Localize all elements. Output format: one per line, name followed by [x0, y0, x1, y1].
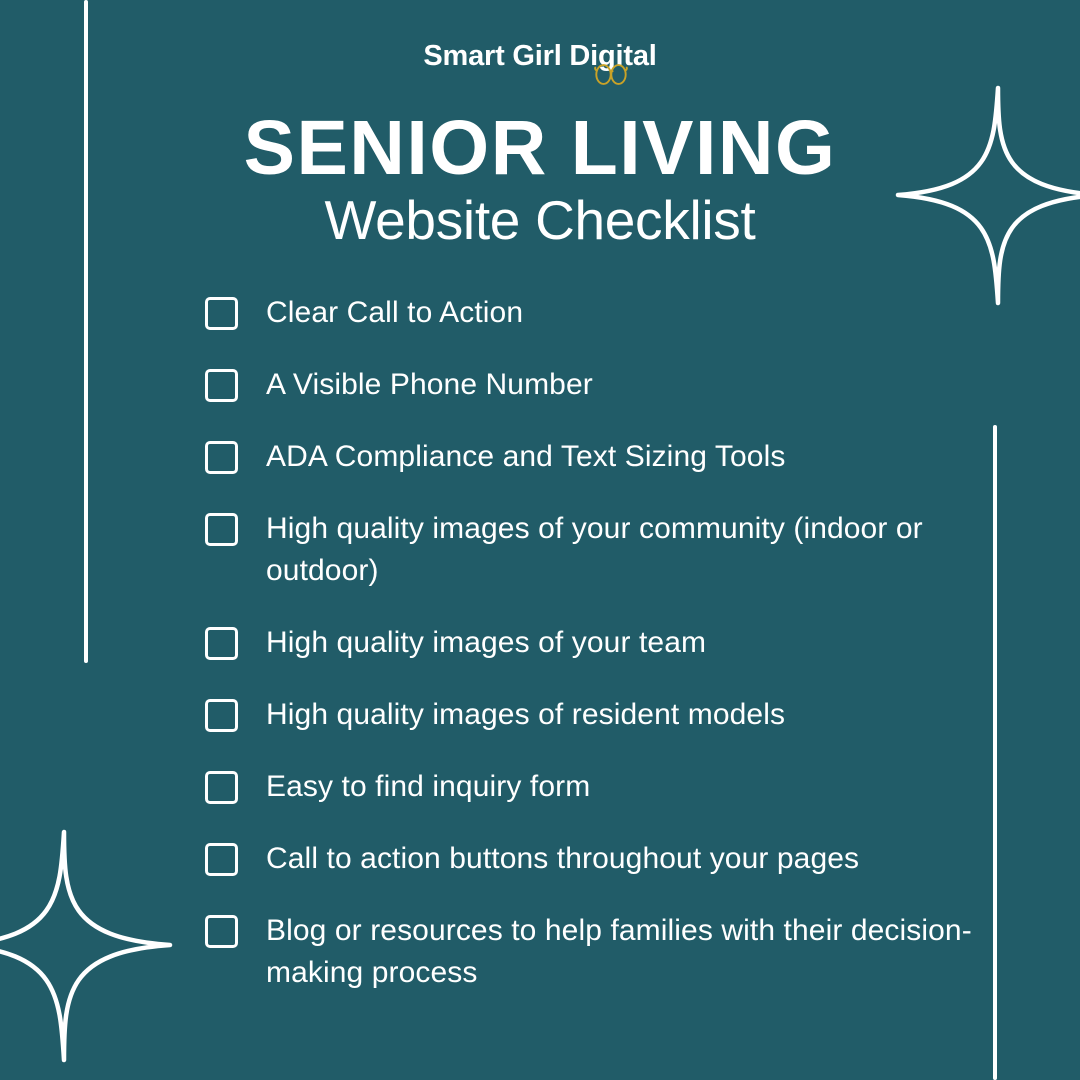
list-item-label: Clear Call to Action: [266, 292, 523, 334]
sparkle-icon-bottom-left: [0, 832, 170, 1060]
list-item[interactable]: Clear Call to Action: [205, 292, 1035, 334]
list-item-label: High quality images of resident models: [266, 694, 785, 736]
brand-logo: Smart Girl Digital: [0, 36, 1080, 80]
vertical-divider-left: [84, 0, 88, 663]
checkbox-icon[interactable]: [205, 369, 238, 402]
checkbox-icon[interactable]: [205, 771, 238, 804]
checkbox-icon[interactable]: [205, 627, 238, 660]
checkbox-icon[interactable]: [205, 297, 238, 330]
list-item-label: Easy to find inquiry form: [266, 766, 590, 808]
list-item-label: High quality images of your community (i…: [266, 508, 1006, 592]
list-item[interactable]: High quality images of your community (i…: [205, 508, 1035, 592]
checkbox-icon[interactable]: [205, 513, 238, 546]
list-item[interactable]: High quality images of resident models: [205, 694, 1035, 736]
list-item[interactable]: Call to action buttons throughout your p…: [205, 838, 1035, 880]
list-item[interactable]: High quality images of your team: [205, 622, 1035, 664]
checkbox-icon[interactable]: [205, 915, 238, 948]
checkbox-icon[interactable]: [205, 441, 238, 474]
page-subtitle: Website Checklist: [0, 188, 1080, 252]
list-item[interactable]: Blog or resources to help families with …: [205, 910, 1035, 994]
checkbox-icon[interactable]: [205, 843, 238, 876]
list-item[interactable]: ADA Compliance and Text Sizing Tools: [205, 436, 1035, 478]
glasses-icon: [594, 61, 628, 89]
list-item-label: A Visible Phone Number: [266, 364, 593, 406]
brand-logo-text-wrap: Smart Girl Digital: [423, 36, 656, 76]
list-item[interactable]: Easy to find inquiry form: [205, 766, 1035, 808]
list-item-label: Call to action buttons throughout your p…: [266, 838, 859, 880]
list-item-label: ADA Compliance and Text Sizing Tools: [266, 436, 785, 478]
checkbox-icon[interactable]: [205, 699, 238, 732]
page-title: SENIOR LIVING: [0, 104, 1080, 192]
list-item-label: Blog or resources to help families with …: [266, 910, 1006, 994]
checklist: Clear Call to Action A Visible Phone Num…: [205, 292, 1035, 994]
list-item-label: High quality images of your team: [266, 622, 706, 664]
poster-canvas: Smart Girl Digital SENIOR LIVING Website…: [0, 0, 1080, 1080]
list-item[interactable]: A Visible Phone Number: [205, 364, 1035, 406]
